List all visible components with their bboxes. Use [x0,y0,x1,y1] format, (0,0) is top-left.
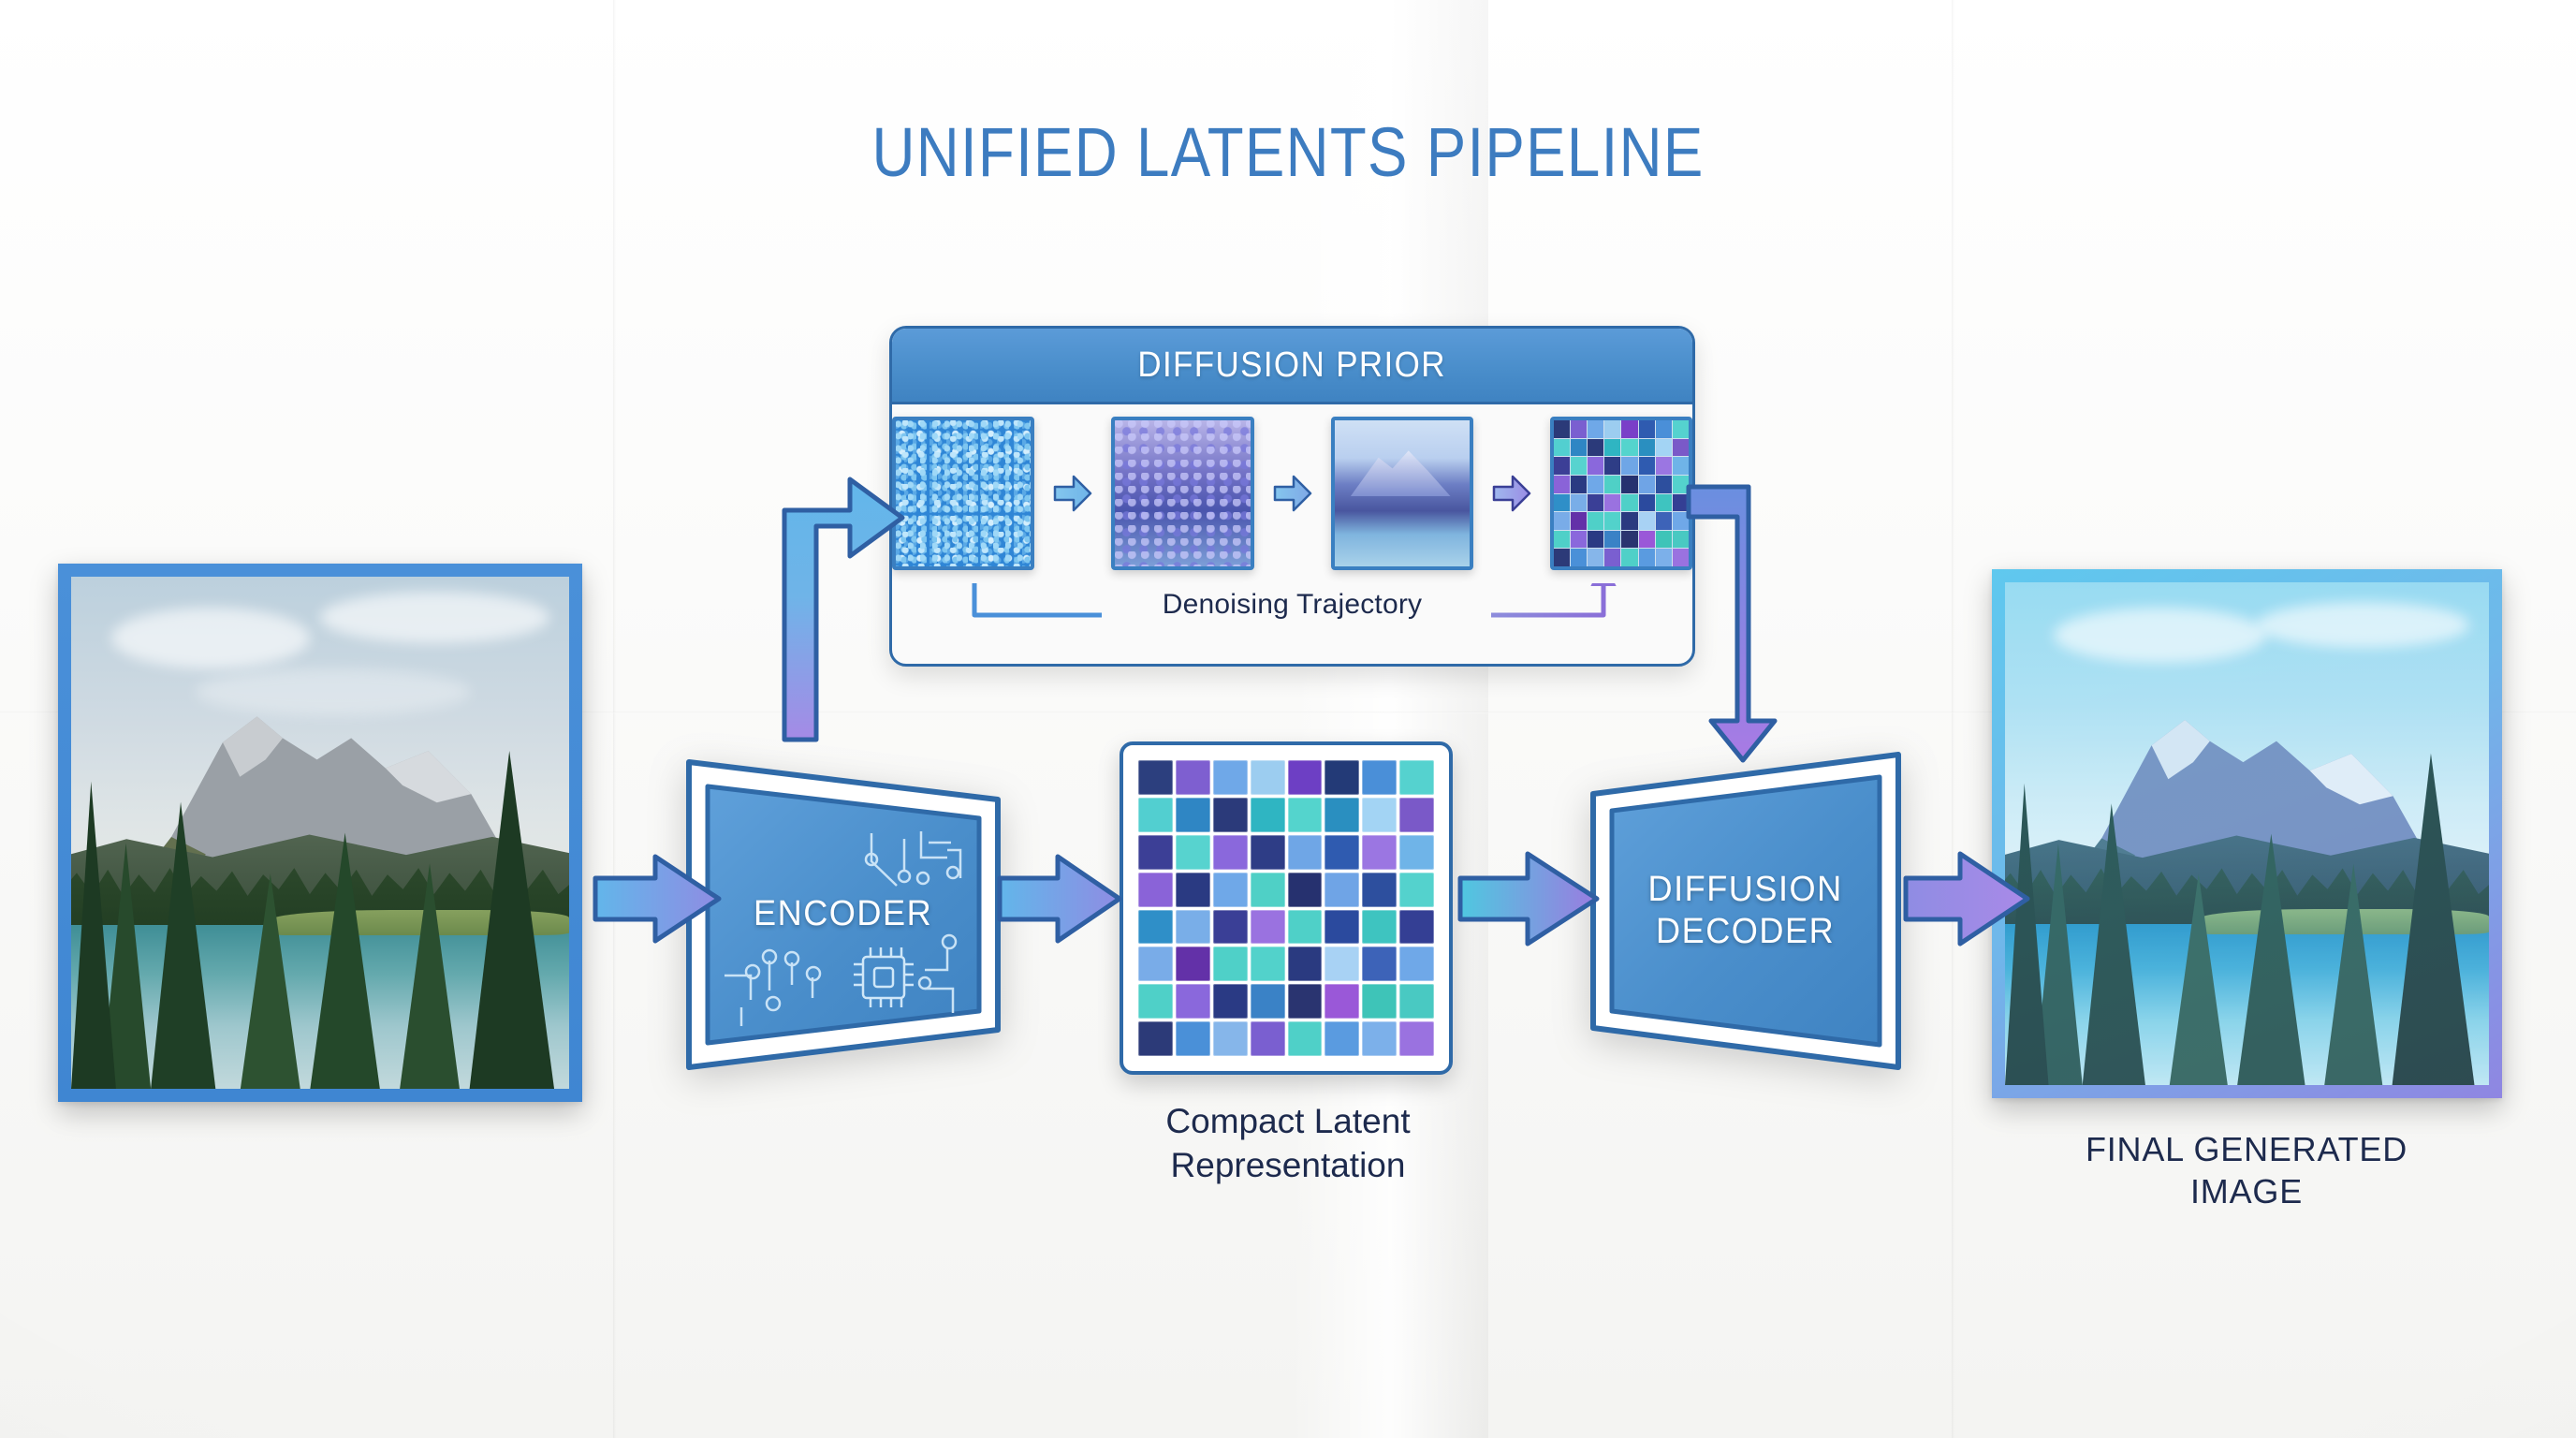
latent-cell [1621,476,1637,493]
latent-cell [1288,760,1323,795]
latent-cell [1656,420,1672,438]
latent-cell [1673,494,1689,512]
page-title: UNIFIED LATENTS PIPELINE [181,112,2396,192]
latent-cell [1673,457,1689,475]
latent-cell [1138,910,1173,945]
arrow-encoder-to-latent [1000,857,1120,941]
latent-cell [1621,439,1637,457]
latent-cell [1362,910,1397,945]
latent-cell [1621,531,1637,549]
diagram-canvas: UNIFIED LATENTS PIPELINE [0,0,2576,1438]
step-thumb-scene [1331,417,1473,570]
latent-cell [1176,873,1210,907]
latent-cell [1571,549,1587,566]
step-arrow-icon [1053,472,1092,515]
latent-cell [1571,457,1587,475]
latent-cell [1213,910,1248,945]
output-photo-card [1992,569,2502,1098]
latent-cell [1656,549,1672,566]
latent-cell [1621,420,1637,438]
latent-cell [1656,512,1672,530]
latent-cell [1213,984,1248,1019]
output-caption-line1: FINAL GENERATED [1984,1128,2509,1170]
latent-cell [1673,476,1689,493]
diffusion-prior-panel: DIFFUSION PRIOR [889,326,1695,667]
paper-fold-3 [1952,0,1954,1438]
latent-cell [1288,946,1323,981]
latent-cell [1604,420,1620,438]
latent-cell [1673,420,1689,438]
latent-cell [1213,798,1248,832]
latent-cell [1325,946,1359,981]
foreground-trees [2005,582,2489,1085]
latent-cell [1325,873,1359,907]
latent-cell [1288,873,1323,907]
latent-cell [1673,531,1689,549]
latent-cell [1639,476,1655,493]
latent-cell [1362,946,1397,981]
latent-cell [1399,984,1434,1019]
latent-cell [1288,910,1323,945]
decoder-shape [1582,740,1910,1082]
latent-cell [1325,984,1359,1019]
latent-cell [1325,910,1359,945]
latent-cell [1325,760,1359,795]
input-photo-scene [71,577,569,1089]
latent-cell [1554,439,1570,457]
latent-cell [1604,549,1620,566]
step-thumb-pure-noise [892,417,1034,570]
latent-cell [1288,1021,1323,1056]
step-thumb-latent-grid [1550,417,1692,570]
latent-cell [1176,760,1210,795]
output-caption-line2: IMAGE [1984,1170,2509,1212]
latent-cell [1251,1021,1285,1056]
diffusion-decoder-block[interactable]: DIFFUSION DECODER [1582,740,1910,1082]
latent-cell [1288,984,1323,1019]
arrow-prior-to-decoder [1689,487,1775,760]
latent-cell [1554,457,1570,475]
latent-cell [1288,798,1323,832]
latent-cell [1362,760,1397,795]
mini-latent-grid [1554,420,1689,566]
latent-cell [1571,439,1587,457]
latent-cell [1362,873,1397,907]
latent-cell [1138,1021,1173,1056]
latent-cell [1621,457,1637,475]
latent-cell [1213,835,1248,870]
diffusion-prior-header: DIFFUSION PRIOR [892,329,1692,404]
latent-cell [1554,476,1570,493]
latent-cell [1325,1021,1359,1056]
latent-cell [1138,946,1173,981]
latent-cell [1251,760,1285,795]
latent-cell [1325,835,1359,870]
input-photo-border [58,564,582,1102]
latent-cell [1138,984,1173,1019]
latent-cell [1362,984,1397,1019]
latent-cell [1251,984,1285,1019]
encoder-block[interactable]: ENCODER [680,749,1007,1078]
latent-cell [1656,439,1672,457]
latent-cell [1639,531,1655,549]
latent-cell [1176,984,1210,1019]
step-thumb-partial [1111,417,1253,570]
latent-cell [1656,531,1672,549]
latent-cell [1554,512,1570,530]
paper-fold-1 [613,0,616,1438]
latent-cell [1554,531,1570,549]
latent-cell [1656,476,1672,493]
latent-cell [1213,760,1248,795]
latent-cell [1571,531,1587,549]
latent-cell [1604,439,1620,457]
latent-cell [1251,946,1285,981]
latent-cell [1399,1021,1434,1056]
latent-grid [1138,760,1434,1056]
latent-cell [1176,1021,1210,1056]
latent-cell [1251,835,1285,870]
latent-cell [1176,910,1210,945]
latent-cell [1588,549,1603,566]
latent-cell [1588,531,1603,549]
latent-cell [1554,549,1570,566]
arrow-encoder-to-prior [784,479,902,740]
latent-cell [1621,512,1637,530]
latent-cell [1604,476,1620,493]
latent-cell [1639,457,1655,475]
step-arrow-icon [1492,472,1531,515]
output-caption: FINAL GENERATED IMAGE [1984,1128,2509,1213]
latent-cell [1213,946,1248,981]
latent-cell [1213,873,1248,907]
input-photo-card [58,564,582,1102]
latent-cell [1571,512,1587,530]
latent-cell [1554,420,1570,438]
latent-cell [1399,835,1434,870]
latent-cell [1176,798,1210,832]
latent-cell [1213,1021,1248,1056]
latent-cell [1176,946,1210,981]
latent-cell [1588,494,1603,512]
trajectory-connectors [892,583,1692,645]
latent-cell [1673,439,1689,457]
latent-cell [1656,457,1672,475]
latent-cell [1604,531,1620,549]
arrow-latent-to-decoder [1460,854,1597,944]
latent-caption-line2: Representation [1026,1144,1550,1188]
latent-cell [1571,476,1587,493]
latent-grid-card [1120,741,1453,1075]
denoising-steps [892,409,1692,578]
paper-fold-2 [1292,0,1488,1438]
latent-cell [1251,798,1285,832]
latent-cell [1138,835,1173,870]
latent-cell [1673,549,1689,566]
latent-cell [1399,873,1434,907]
latent-cell [1604,494,1620,512]
latent-cell [1138,873,1173,907]
encoder-shape [680,749,1007,1078]
latent-caption-line1: Compact Latent [1026,1100,1550,1144]
latent-cell [1399,910,1434,945]
latent-cell [1639,512,1655,530]
latent-cell [1399,798,1434,832]
latent-cell [1138,798,1173,832]
latent-cell [1399,946,1434,981]
latent-cell [1639,420,1655,438]
latent-cell [1288,835,1323,870]
output-photo-scene [2005,582,2489,1085]
latent-cell [1588,439,1603,457]
latent-cell [1588,476,1603,493]
denoising-trajectory-row: Denoising Trajectory [892,583,1692,645]
latent-cell [1325,798,1359,832]
latent-cell [1251,910,1285,945]
latent-cell [1656,494,1672,512]
latent-cell [1362,1021,1397,1056]
output-photo-border [1992,569,2502,1098]
latent-cell [1554,494,1570,512]
latent-cell [1639,494,1655,512]
latent-cell [1673,512,1689,530]
latent-cell [1399,760,1434,795]
latent-cell [1588,512,1603,530]
latent-cell [1362,798,1397,832]
latent-cell [1621,494,1637,512]
latent-cell [1604,457,1620,475]
latent-cell [1639,549,1655,566]
latent-cell [1362,835,1397,870]
latent-cell [1571,420,1587,438]
latent-cell [1588,420,1603,438]
latent-cell [1604,512,1620,530]
latent-caption: Compact Latent Representation [1026,1100,1550,1187]
step-arrow-icon [1273,472,1312,515]
latent-cell [1138,760,1173,795]
latent-cell [1251,873,1285,907]
latent-cell [1588,457,1603,475]
latent-cell [1639,439,1655,457]
latent-cell [1621,549,1637,566]
latent-cell [1571,494,1587,512]
foreground-trees [71,577,569,1089]
latent-cell [1176,835,1210,870]
